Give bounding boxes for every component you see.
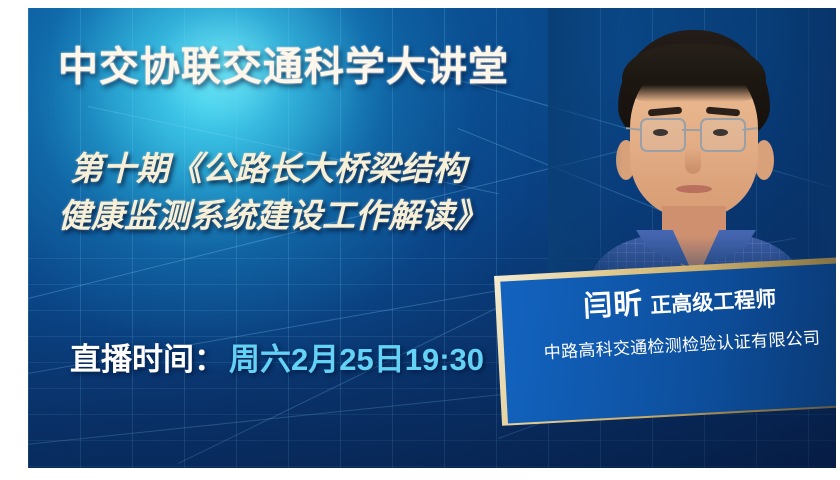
poster-canvas: 中交协联交通科学大讲堂 第十期《公路长大桥梁结构 健康监测系统建设工作解读》 直…: [28, 8, 836, 468]
speaker-organization: 中路高科交通检测检验认证有限公司: [504, 321, 836, 365]
episode-subtitle-line-1: 第十期《公路长大桥梁结构: [52, 146, 592, 193]
page-title: 中交协联交通科学大讲堂: [58, 34, 509, 92]
speaker-job-title: 正高级工程师: [650, 288, 777, 318]
portrait-glasses-lens-left: [640, 118, 686, 152]
portrait-glasses-bridge: [682, 129, 700, 131]
portrait-fringe: [622, 44, 766, 102]
portrait-mouth: [676, 185, 712, 193]
portrait-glasses-lens-right: [700, 118, 746, 152]
live-time-row: 直播时间：周六2月25日19:30: [70, 334, 484, 379]
episode-subtitle-line-2: 健康监测系统建设工作解读》: [52, 193, 592, 240]
speaker-name-row: 闫昕正高级工程师: [501, 278, 836, 326]
speaker-info-panel: 闫昕正高级工程师 中路高科交通检测检验认证有限公司: [494, 257, 836, 424]
live-time-value: 周六2月25日19:30: [229, 342, 484, 377]
episode-subtitle: 第十期《公路长大桥梁结构 健康监测系统建设工作解读》: [52, 146, 592, 240]
poster-frame: 中交协联交通科学大讲堂 第十期《公路长大桥梁结构 健康监测系统建设工作解读》 直…: [0, 0, 840, 480]
speaker-panel-content: 闫昕正高级工程师 中路高科交通检测检验认证有限公司: [500, 262, 836, 423]
speaker-name: 闫昕: [582, 288, 644, 323]
live-time-label: 直播时间：: [70, 342, 225, 377]
portrait-nose: [685, 148, 701, 174]
